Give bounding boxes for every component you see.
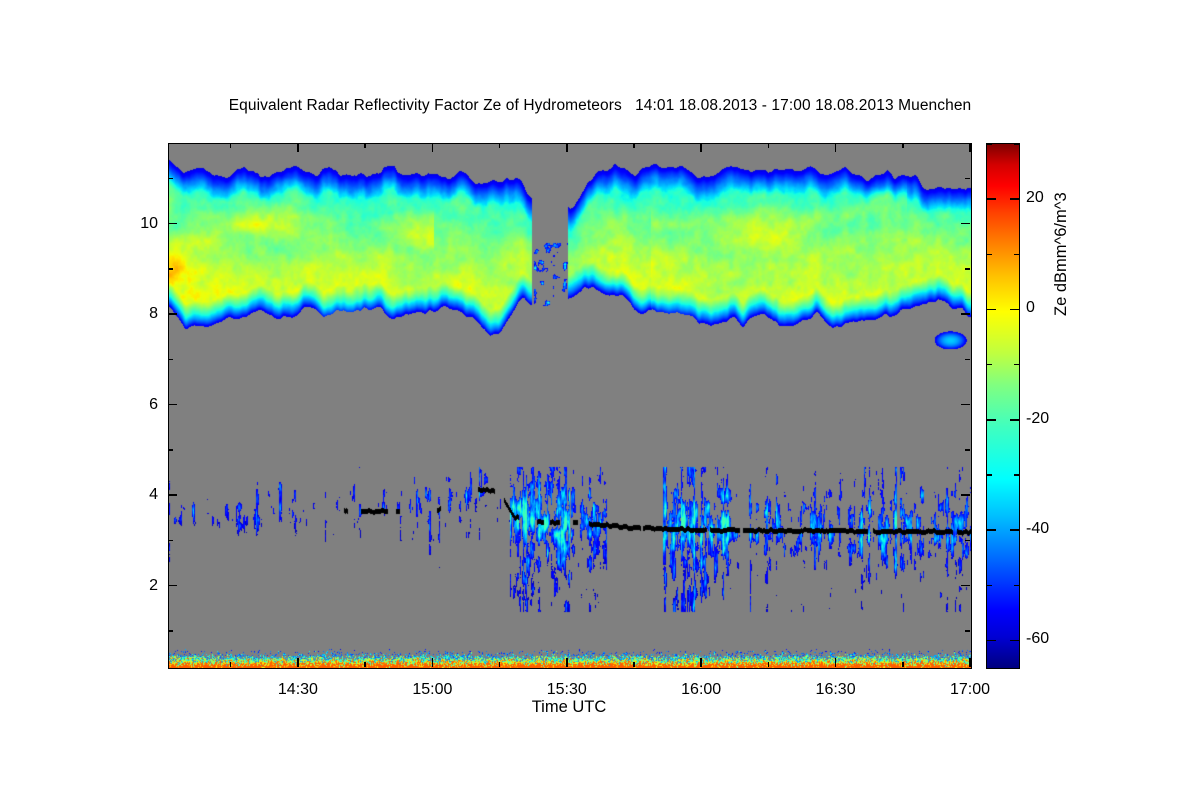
colorbar-tick xyxy=(987,474,992,476)
plot-area xyxy=(168,143,972,669)
colorbar-tick-label: 20 xyxy=(1026,189,1044,207)
colorbar-tick xyxy=(987,640,996,642)
colorbar-tick-label: 0 xyxy=(1026,299,1035,317)
colorbar-tick xyxy=(987,529,996,531)
colorbar-tick xyxy=(987,419,996,421)
colorbar-title: Ze dBmm^6/m^3 xyxy=(1052,192,1071,316)
x-tick-label: 17:00 xyxy=(950,681,990,699)
colorbar-tick xyxy=(987,309,996,311)
x-axis-title: Time UTC xyxy=(0,698,1200,717)
x-tick-label: 16:00 xyxy=(681,681,721,699)
y-tick-label: 2 xyxy=(110,577,158,595)
colorbar-tick xyxy=(987,198,996,200)
radar-reflectivity-figure: Equivalent Radar Reflectivity Factor Ze … xyxy=(0,0,1200,800)
colorbar-tick-label: -20 xyxy=(1026,410,1049,428)
y-tick-label: 6 xyxy=(110,396,158,414)
colorbar-tick-label: -40 xyxy=(1026,520,1049,538)
colorbar xyxy=(986,143,1020,669)
colorbar-tick-label: -60 xyxy=(1026,630,1049,648)
colorbar-tick xyxy=(987,364,992,366)
colorbar-tick xyxy=(1010,640,1019,642)
y-tick-label: 10 xyxy=(110,215,158,233)
colorbar-tick xyxy=(1014,585,1019,587)
colorbar-tick xyxy=(1014,254,1019,256)
colorbar-tick xyxy=(1014,364,1019,366)
y-tick-label: 4 xyxy=(110,486,158,504)
figure-title: Equivalent Radar Reflectivity Factor Ze … xyxy=(0,97,1200,115)
colorbar-tick xyxy=(1010,198,1019,200)
colorbar-tick xyxy=(1014,474,1019,476)
colorbar-tick xyxy=(1010,529,1019,531)
x-axis-title-text: Time UTC xyxy=(532,698,607,717)
colorbar-tick xyxy=(1014,143,1019,145)
colorbar-tick xyxy=(987,254,992,256)
colorbar-tick xyxy=(1010,309,1019,311)
reflectivity-heatmap xyxy=(169,144,971,668)
y-tick-label: 8 xyxy=(110,305,158,323)
colorbar-tick xyxy=(987,585,992,587)
x-tick-label: 15:00 xyxy=(412,681,452,699)
x-tick-label: 14:30 xyxy=(278,681,318,699)
x-tick-label: 16:30 xyxy=(816,681,856,699)
x-tick-label: 15:30 xyxy=(547,681,587,699)
colorbar-tick xyxy=(987,143,992,145)
colorbar-tick xyxy=(1010,419,1019,421)
